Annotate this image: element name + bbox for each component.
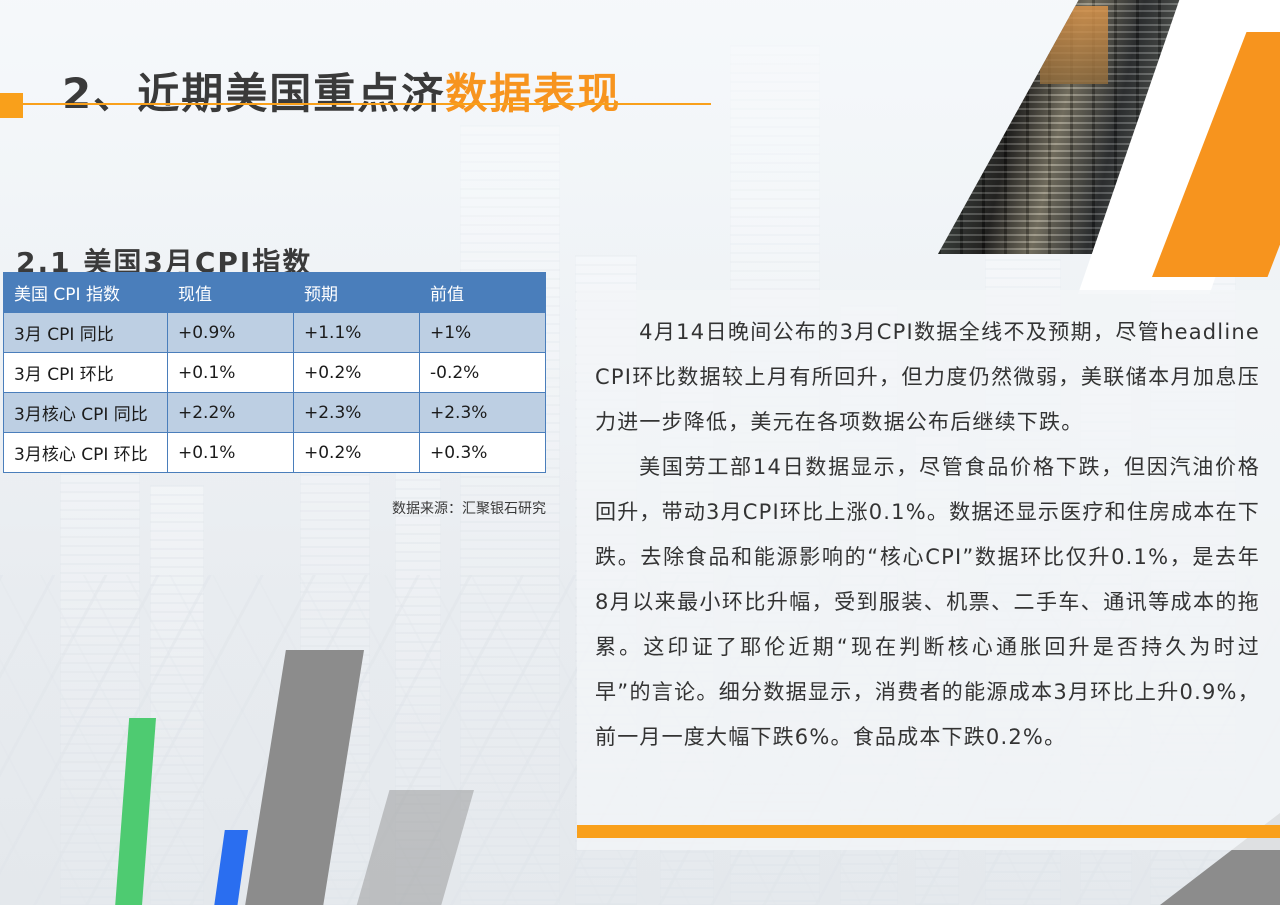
table-cell-previous: +0.3%	[420, 433, 546, 473]
table-cell-previous: -0.2%	[420, 353, 546, 393]
table-row: 3月 CPI 环比 +0.1% +0.2% -0.2%	[4, 353, 546, 393]
table-row: 3月 CPI 同比 +0.9% +1.1% +1%	[4, 313, 546, 353]
table-cell-previous: +2.3%	[420, 393, 546, 433]
table-cell-current: +0.9%	[168, 313, 294, 353]
table-cell-name: 3月 CPI 同比	[4, 313, 168, 353]
data-source-note: 数据来源：汇聚银石研究	[0, 498, 546, 518]
table-cell-name: 3月 CPI 环比	[4, 353, 168, 393]
table-cell-current: +0.1%	[168, 353, 294, 393]
table-cell-forecast: +2.3%	[294, 393, 420, 433]
table-cell-forecast: +0.2%	[294, 353, 420, 393]
table-header-cell-previous: 前值	[420, 273, 546, 313]
table-cell-previous: +1%	[420, 313, 546, 353]
commentary-paragraph-1: 4月14日晚间公布的3月CPI数据全线不及预期，尽管headline CPI环比…	[595, 310, 1260, 445]
table-row: 3月核心 CPI 同比 +2.2% +2.3% +2.3%	[4, 393, 546, 433]
table-cell-name: 3月核心 CPI 同比	[4, 393, 168, 433]
title-accent-block	[0, 93, 23, 118]
title-underline-rule	[23, 103, 711, 105]
table-cell-current: +2.2%	[168, 393, 294, 433]
cpi-table: 美国 CPI 指数 现值 预期 前值 3月 CPI 同比 +0.9% +1.1%…	[3, 272, 546, 473]
page-title-primary: 2、近期美国重点济	[62, 69, 445, 118]
table-header-cell-forecast: 预期	[294, 273, 420, 313]
page-title-accent: 数据表现	[445, 69, 621, 118]
table-cell-forecast: +0.2%	[294, 433, 420, 473]
cpi-table-container: 美国 CPI 指数 现值 预期 前值 3月 CPI 同比 +0.9% +1.1%…	[3, 272, 546, 473]
slide-canvas: 2、近期美国重点济数据表现 2.1 美国3月CPI指数 美国 CPI 指数 现值…	[0, 0, 1280, 905]
commentary-body: 4月14日晚间公布的3月CPI数据全线不及预期，尽管headline CPI环比…	[595, 310, 1260, 760]
panel-orange-rule	[577, 825, 1280, 838]
table-cell-name: 3月核心 CPI 环比	[4, 433, 168, 473]
commentary-panel: 4月14日晚间公布的3月CPI数据全线不及预期，尽管headline CPI环比…	[577, 290, 1280, 850]
table-cell-forecast: +1.1%	[294, 313, 420, 353]
table-header-cell-name: 美国 CPI 指数	[4, 273, 168, 313]
page-title: 2、近期美国重点济数据表现	[62, 70, 621, 117]
table-row: 3月核心 CPI 环比 +0.1% +0.2% +0.3%	[4, 433, 546, 473]
commentary-paragraph-2: 美国劳工部14日数据显示，尽管食品价格下跌，但因汽油价格回升，带动3月CPI环比…	[595, 445, 1260, 760]
table-cell-current: +0.1%	[168, 433, 294, 473]
table-header-row: 美国 CPI 指数 现值 预期 前值	[4, 273, 546, 313]
table-header-cell-current: 现值	[168, 273, 294, 313]
